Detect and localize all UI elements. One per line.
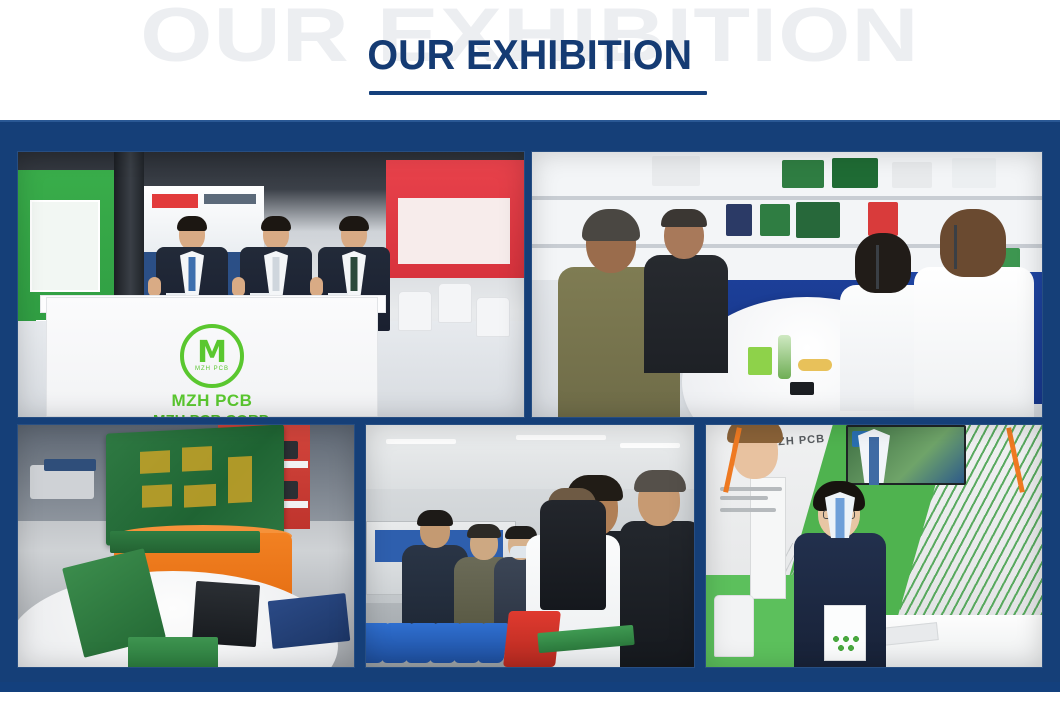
person-tie [869,437,879,485]
person-tie [273,257,280,291]
lanyard [954,225,957,269]
back-booth-gray-sign [204,194,256,204]
photo-grid: M MZH PCB MZH PCB MZH PCB CORP. [18,152,1042,667]
text-line [720,487,782,491]
smartphone [790,382,814,395]
page-title: OUR EXHIBITION [368,31,693,79]
person-head [179,219,205,250]
background-chairs [398,273,518,343]
person-hair [634,470,686,492]
pcb-sample [44,459,96,471]
pcb-gold-pad [142,484,172,508]
person-tie [836,498,845,538]
water-bottle [778,335,791,379]
staff-person [914,217,1034,417]
logo-circle-caption: MZH PCB [195,366,229,372]
photo-pcb-display[interactable] [18,425,354,667]
photo-meeting-table[interactable] [532,152,1042,417]
tissue-box [748,347,772,375]
mzh-pcb-logo-icon: M MZH PCB [180,324,244,388]
page-title-wrap: OUR EXHIBITION [0,31,1060,79]
text-line [720,496,768,500]
title-underline-rule [369,91,707,95]
person-hair [339,216,369,231]
thumbs-up-hand [148,277,161,297]
person-hair [661,209,707,227]
counter-brand-text: MZH PCB [172,391,253,411]
person-tie [351,257,358,291]
pcb-sample [726,204,752,236]
pcb-populated-board [268,593,351,649]
person-head [664,213,704,259]
photo-row-bottom: MZH PCB [18,425,1042,667]
counter-brand-subtext: MZH PCB CORP. [153,412,271,417]
person-tie [189,257,196,291]
pcb-sample [892,162,932,188]
pcb-sample [652,156,700,186]
person-head [586,215,636,273]
page-header: OUR EXHIBITION OUR EXHIBITION [0,0,1060,120]
person-head [638,476,680,526]
pcb-gold-pad [140,450,170,474]
photo-booth-pair[interactable]: MZH PCB [706,425,1042,667]
person-vest [540,500,606,610]
thumbs-up-hand [232,277,245,297]
candy-plate [798,359,832,371]
visitor-person [644,213,728,373]
logo-m-glyph: M [197,340,227,366]
back-booth-red-sign [152,194,198,208]
pcb-green-board [128,637,218,667]
pcb-connector-strip [110,531,260,553]
red-booth-wall [386,160,524,278]
gallery-panel: M MZH PCB MZH PCB MZH PCB CORP. [0,120,1060,692]
person-head [862,239,904,289]
person-hair [855,233,911,293]
person-head [263,219,289,250]
chair [438,283,472,323]
photo-booth-team[interactable]: M MZH PCB MZH PCB MZH PCB CORP. [18,152,524,417]
brochure-dots-graphic [831,634,861,652]
pcb-gold-pad [228,456,252,503]
shelf-edge [532,196,1042,200]
ceiling-light [516,435,606,440]
ceiling-light [620,443,680,448]
pcb-gold-pad [184,484,216,508]
pcb-sample [760,204,790,236]
person-body [914,267,1034,417]
pcb-sample [832,158,878,188]
wall-description-lines [720,487,782,517]
person-body [644,255,728,373]
person-body [620,521,694,667]
red-wall-poster [398,198,510,264]
person-hair [940,209,1006,277]
pcb-sample [796,202,840,238]
photo-factory-tour[interactable] [366,425,694,667]
person-head [341,219,367,250]
booth-counter: M MZH PCB MZH PCB MZH PCB CORP. [46,297,378,417]
thumbs-up-hand [310,277,323,297]
chair [476,297,510,337]
pcb-sample [952,158,996,188]
pcb-sample [782,160,824,188]
exhibition-page: OUR EXHIBITION OUR EXHIBITION [0,0,1060,702]
chair [398,291,432,331]
held-brochure [824,605,866,661]
person-head [420,514,450,548]
pcb-sample [868,202,898,236]
photo-row-top: M MZH PCB MZH PCB MZH PCB CORP. [18,152,1042,417]
ceiling-light [386,439,456,444]
text-line [720,508,776,512]
person-hair [261,216,291,231]
lanyard [876,245,879,289]
person-hair [177,216,207,231]
green-wall-poster [30,200,100,292]
pcb-gold-pad [182,446,212,472]
booth-chair [714,595,754,657]
person-hair [417,510,453,526]
